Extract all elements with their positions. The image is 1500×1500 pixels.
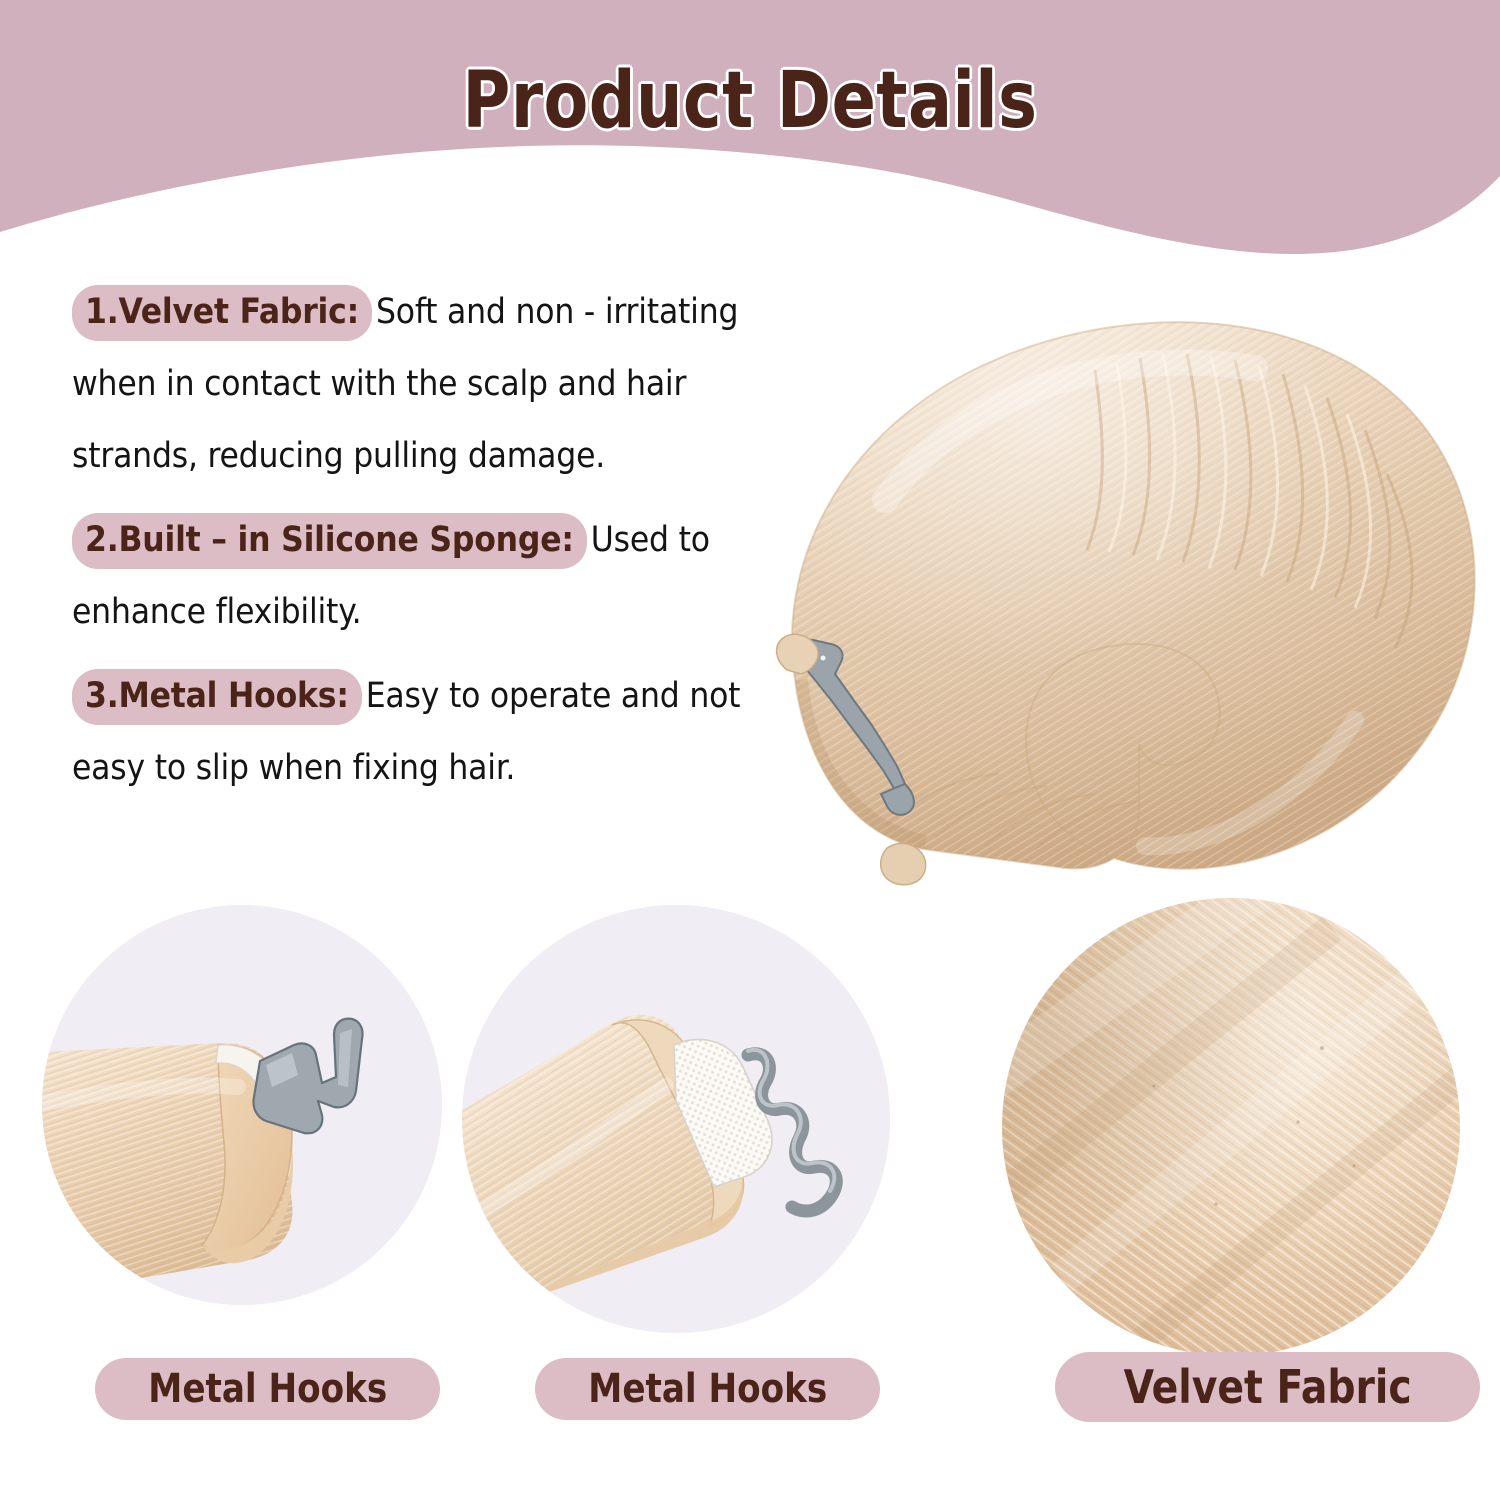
page-title: Product Details — [53, 56, 1448, 146]
caption-label: Metal Hooks — [148, 1366, 387, 1412]
detail-circle-velvet-fabric — [1002, 898, 1460, 1356]
velvet-roll-body — [735, 250, 1500, 910]
feature-item-1: 1.Velvet Fabric:Soft and non - irritatin… — [72, 276, 782, 492]
caption-label: Velvet Fabric — [1123, 1360, 1411, 1414]
detail-circle-metal-hooks-2 — [462, 905, 890, 1333]
caption-label: Metal Hooks — [588, 1366, 827, 1412]
feature-list: 1.Velvet Fabric:Soft and non - irritatin… — [72, 276, 782, 816]
feature-label-silicone-sponge: 2.Built – in Silicone Sponge: — [72, 513, 587, 569]
caption-pill-velvet-fabric: Velvet Fabric — [1055, 1352, 1480, 1422]
feature-item-2: 2.Built – in Silicone Sponge:Used to enh… — [72, 504, 782, 648]
feature-paragraph: 3.Metal Hooks:Easy to operate and not ea… — [72, 660, 782, 804]
main-product-photo — [735, 250, 1500, 910]
caption-pill-metal-hooks-2: Metal Hooks — [535, 1358, 880, 1420]
feature-paragraph: 1.Velvet Fabric:Soft and non - irritatin… — [72, 276, 782, 492]
caption-pill-metal-hooks-1: Metal Hooks — [95, 1358, 440, 1420]
feature-paragraph: 2.Built – in Silicone Sponge:Used to enh… — [72, 504, 782, 648]
feature-label-metal-hooks: 3.Metal Hooks: — [72, 669, 362, 725]
feature-label-velvet-fabric: 1.Velvet Fabric: — [72, 285, 372, 341]
feature-item-3: 3.Metal Hooks:Easy to operate and not ea… — [72, 660, 782, 804]
detail-circle-metal-hooks-1 — [42, 905, 442, 1305]
